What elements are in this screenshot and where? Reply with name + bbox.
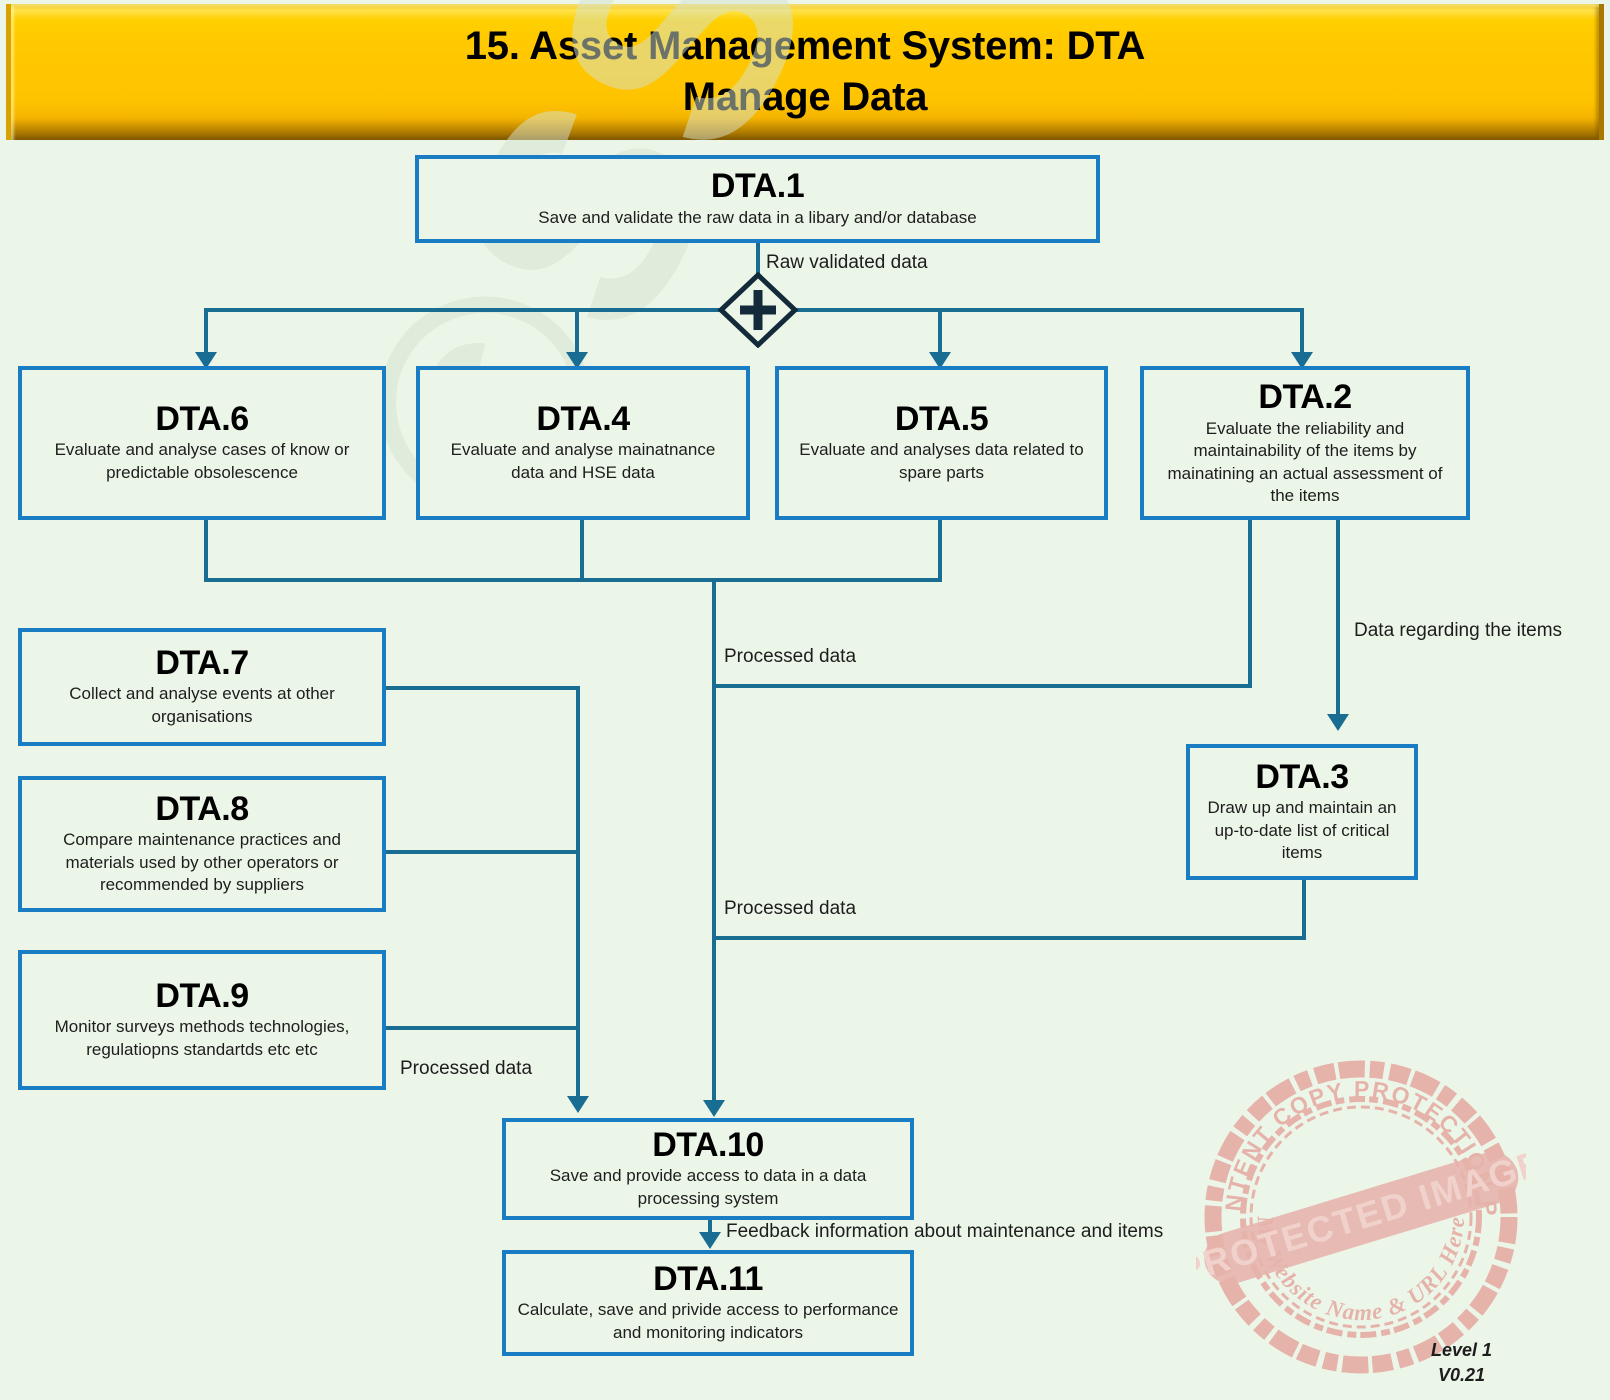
label-processed-data-left: Processed data xyxy=(400,1058,532,1080)
connector-bus-to-dta5 xyxy=(938,308,942,358)
connector-dta2-left-to-trunk xyxy=(712,684,1252,688)
node-dta5-id: DTA.5 xyxy=(895,402,988,438)
svg-text:WP CONTENT COPY PROTECTION PLU: WP CONTENT COPY PROTECTION PLUGIN xyxy=(1196,1052,1502,1218)
arrow-into-dta10-left xyxy=(567,1096,589,1113)
connector-dta3-to-trunk xyxy=(712,936,1306,940)
connector-dta3-down xyxy=(1302,880,1306,940)
node-dta3-id: DTA.3 xyxy=(1255,760,1348,796)
label-data-regarding-items: Data regarding the items xyxy=(1354,620,1562,642)
node-dta5[interactable]: DTA.5 Evaluate and analyses data related… xyxy=(775,366,1108,520)
node-dta10[interactable]: DTA.10 Save and provide access to data i… xyxy=(502,1118,914,1220)
stamp-band-text: PROTECTED IMAGE xyxy=(1196,1141,1526,1291)
footer-meta: Level 1 V0.21 xyxy=(1431,1338,1492,1388)
node-dta5-desc: Evaluate and analyses data related to sp… xyxy=(792,439,1092,484)
node-dta2[interactable]: DTA.2 Evaluate the reliability and maint… xyxy=(1140,366,1470,520)
node-dta11-id: DTA.11 xyxy=(653,1262,763,1298)
node-dta7-desc: Collect and analyse events at other orga… xyxy=(32,683,372,728)
node-dta3-desc: Draw up and maintain an up-to-date list … xyxy=(1200,797,1405,864)
connector-dta8-right xyxy=(386,850,580,854)
page-title-line-2: Manage Data xyxy=(683,72,928,123)
protected-image-stamp: WP CONTENT COPY PROTECTION PLUGIN My Web… xyxy=(1196,1052,1526,1382)
arrow-into-dta11 xyxy=(699,1232,721,1249)
connector-dta5-left xyxy=(712,578,942,582)
node-dta1-desc: Save and validate the raw data in a liba… xyxy=(538,207,977,229)
node-dta4-desc: Evaluate and analyse mainatnance data an… xyxy=(433,439,733,484)
node-dta3[interactable]: DTA.3 Draw up and maintain an up-to-date… xyxy=(1186,744,1418,880)
node-dta6-desc: Evaluate and analyse cases of know or pr… xyxy=(37,439,367,484)
connector-bus-to-dta6 xyxy=(204,308,208,358)
label-processed-data-mid: Processed data xyxy=(724,898,856,920)
stamp-bottom-text: My Website Name & URL Here xyxy=(1252,1214,1469,1326)
footer-level: Level 1 xyxy=(1431,1338,1492,1363)
connector-dta5-down xyxy=(938,520,942,582)
connector-dta7-right xyxy=(386,686,580,690)
diagram-canvas: ©SSAMM 15. Asset Management System: DTA … xyxy=(0,0,1610,1400)
node-dta11-desc: Calculate, save and privide access to pe… xyxy=(514,1299,902,1344)
connector-dta9-right xyxy=(386,1026,580,1030)
node-dta8-id: DTA.8 xyxy=(155,792,248,828)
connector-dta4-down xyxy=(580,520,584,582)
page-title-line-1: 15. Asset Management System: DTA xyxy=(465,21,1145,72)
footer-version: V0.21 xyxy=(1431,1363,1492,1388)
connector-bus-to-dta2 xyxy=(1300,308,1304,358)
node-dta2-desc: Evaluate the reliability and maintainabi… xyxy=(1155,418,1455,508)
node-dta2-id: DTA.2 xyxy=(1258,380,1351,416)
connector-bus-to-dta4 xyxy=(575,308,579,358)
connector-dta6-right xyxy=(204,578,724,582)
connector-left-merge-trunk xyxy=(576,686,580,1104)
connector-dta2-to-dta3 xyxy=(1336,520,1340,720)
node-dta1-id: DTA.1 xyxy=(711,169,804,205)
arrow-into-dta3 xyxy=(1327,714,1349,731)
node-dta4-id: DTA.4 xyxy=(536,402,629,438)
title-banner: 15. Asset Management System: DTA Manage … xyxy=(6,4,1604,140)
node-dta9[interactable]: DTA.9 Monitor surveys methods technologi… xyxy=(18,950,386,1090)
stamp-top-text: WP CONTENT COPY PROTECTION PLUGIN xyxy=(1196,1052,1502,1218)
label-processed-data-top: Processed data xyxy=(724,646,856,668)
node-dta6[interactable]: DTA.6 Evaluate and analyse cases of know… xyxy=(18,366,386,520)
node-dta10-desc: Save and provide access to data in a dat… xyxy=(514,1165,902,1210)
svg-text:My Website Name & URL Here: My Website Name & URL Here xyxy=(1252,1214,1469,1326)
and-junction-diamond xyxy=(716,272,800,348)
node-dta1[interactable]: DTA.1 Save and validate the raw data in … xyxy=(415,155,1100,243)
connector-dta2-left-drop xyxy=(1248,520,1252,688)
node-dta9-desc: Monitor surveys methods technologies, re… xyxy=(37,1016,367,1061)
connector-centre-trunk xyxy=(712,578,716,1108)
node-dta11[interactable]: DTA.11 Calculate, save and privide acces… xyxy=(502,1250,914,1356)
connector-dta6-down xyxy=(204,520,208,582)
node-dta6-id: DTA.6 xyxy=(155,402,248,438)
node-dta7-id: DTA.7 xyxy=(155,646,248,682)
node-dta10-id: DTA.10 xyxy=(652,1128,764,1164)
node-dta8[interactable]: DTA.8 Compare maintenance practices and … xyxy=(18,776,386,912)
node-dta4[interactable]: DTA.4 Evaluate and analyse mainatnance d… xyxy=(416,366,750,520)
label-feedback-information: Feedback information about maintenance a… xyxy=(726,1221,1163,1243)
node-dta8-desc: Compare maintenance practices and materi… xyxy=(30,829,374,896)
node-dta9-id: DTA.9 xyxy=(155,979,248,1015)
node-dta7[interactable]: DTA.7 Collect and analyse events at othe… xyxy=(18,628,386,746)
label-raw-validated-data: Raw validated data xyxy=(766,252,928,274)
arrow-into-dta10-centre xyxy=(703,1100,725,1117)
